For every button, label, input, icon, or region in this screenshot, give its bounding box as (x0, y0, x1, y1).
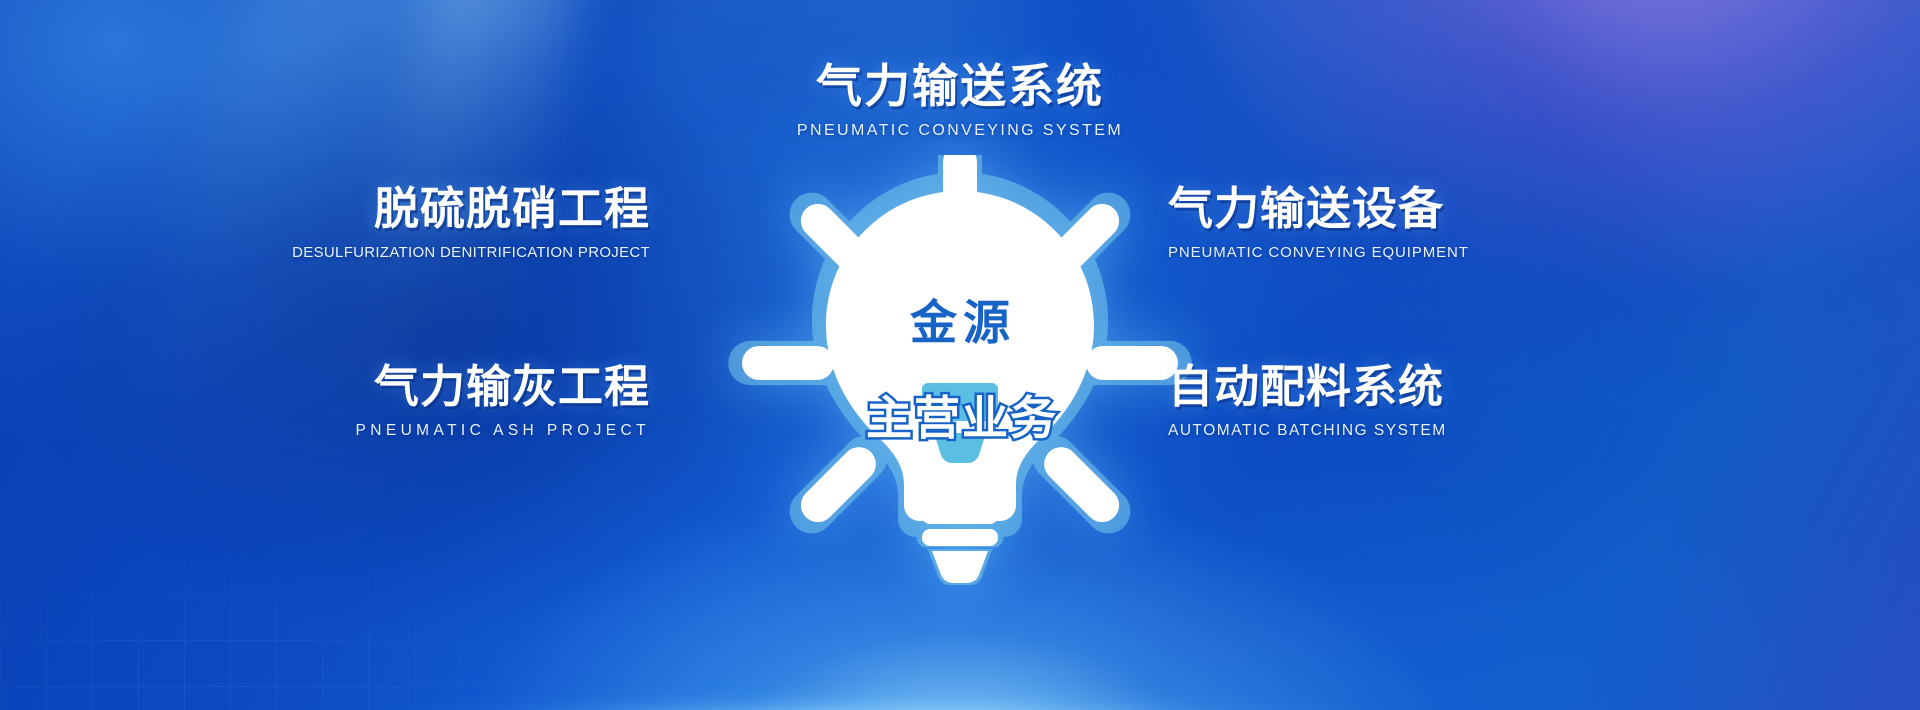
grid-texture (0, 410, 760, 710)
service-title-cn: 气力输灰工程 (180, 363, 650, 411)
service-label-pneumatic-ash-project[interactable]: 气力输灰工程 PNEUMATIC ASH PROJECT (180, 363, 650, 440)
service-label-pneumatic-conveying-system[interactable]: 气力输送系统 PNEUMATIC CONVEYING SYSTEM (560, 62, 1360, 140)
service-title-cn: 自动配料系统 (1168, 363, 1728, 411)
banner-stage: 金源 主营业务 气力输送系统 PNEUMATIC CONVEYING SYSTE… (0, 0, 1920, 710)
horizon-glow (0, 616, 1920, 710)
service-title-en: PNEUMATIC CONVEYING SYSTEM (560, 122, 1360, 140)
light-ray-1 (79, 0, 555, 644)
service-title-cn: 气力输送设备 (1168, 185, 1728, 233)
service-title-en: PNEUMATIC CONVEYING EQUIPMENT (1168, 244, 1728, 261)
service-label-desulfurization-denitrification-project[interactable]: 脱硫脱硝工程 DESULFURIZATION DENITRIFICATION P… (180, 185, 650, 261)
service-label-pneumatic-conveying-equipment[interactable]: 气力输送设备 PNEUMATIC CONVEYING EQUIPMENT (1168, 185, 1728, 261)
service-title-en: PNEUMATIC ASH PROJECT (180, 422, 650, 440)
service-title-cn: 气力输送系统 (560, 62, 1360, 111)
service-title-en: DESULFURIZATION DENITRIFICATION PROJECT (180, 244, 650, 261)
service-title-cn: 脱硫脱硝工程 (180, 185, 650, 233)
service-title-en: AUTOMATIC BATCHING SYSTEM (1168, 422, 1728, 440)
brand-name: 金源 (910, 300, 1016, 347)
service-label-automatic-batching-system[interactable]: 自动配料系统 AUTOMATIC BATCHING SYSTEM (1168, 363, 1728, 440)
business-title: 主营业务 (866, 395, 1058, 441)
